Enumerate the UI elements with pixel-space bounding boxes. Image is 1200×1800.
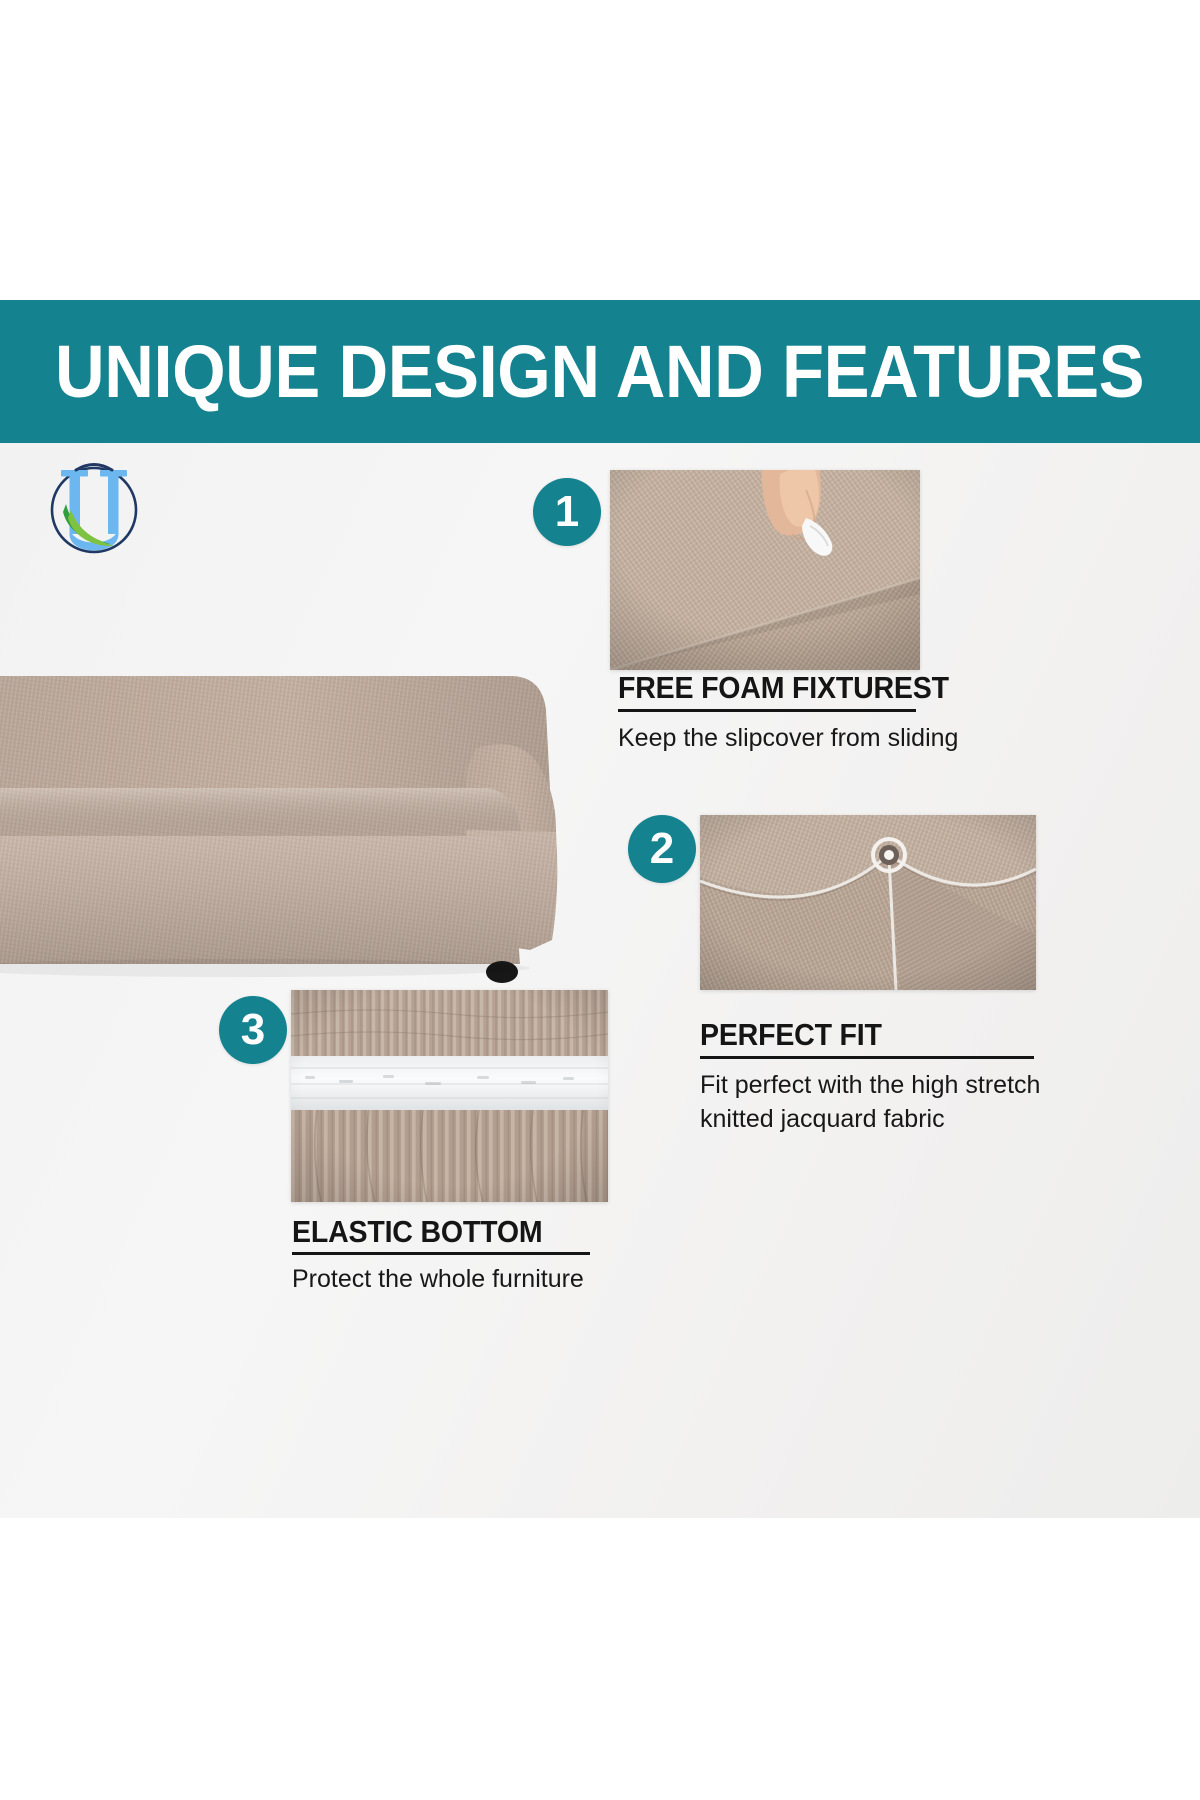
feature-badge-1: 1 — [533, 478, 601, 546]
page-title: UNIQUE DESIGN AND FEATURES — [55, 335, 1144, 409]
bottom-white-margin — [0, 1518, 1200, 1800]
feature-photo-2 — [700, 815, 1036, 990]
feature-description-3: Protect the whole furniture — [292, 1263, 652, 1297]
feature-rule-3 — [292, 1252, 590, 1255]
feature-title-1: FREE FOAM FIXTUREST — [618, 671, 949, 706]
feature-photo-3 — [291, 990, 608, 1202]
infographic-page: UNIQUE DESIGN AND FEATURES — [0, 0, 1200, 1800]
top-white-margin — [0, 0, 1200, 300]
brand-logo-icon — [38, 452, 150, 564]
feature-badge-2: 2 — [628, 815, 696, 883]
product-sofa-image — [0, 640, 610, 1000]
feature-badge-3: 3 — [219, 996, 287, 1064]
feature-description-1: Keep the slipcover from sliding — [618, 722, 1018, 756]
header-banner: UNIQUE DESIGN AND FEATURES — [0, 300, 1200, 443]
feature-photo-1 — [610, 470, 920, 670]
feature-rule-2 — [700, 1056, 1034, 1059]
feature-title-3: ELASTIC BOTTOM — [292, 1215, 542, 1250]
feature-rule-1 — [618, 709, 916, 712]
feature-title-2: PERFECT FIT — [700, 1018, 882, 1053]
feature-description-2: Fit perfect with the high stretch knitte… — [700, 1069, 1060, 1136]
